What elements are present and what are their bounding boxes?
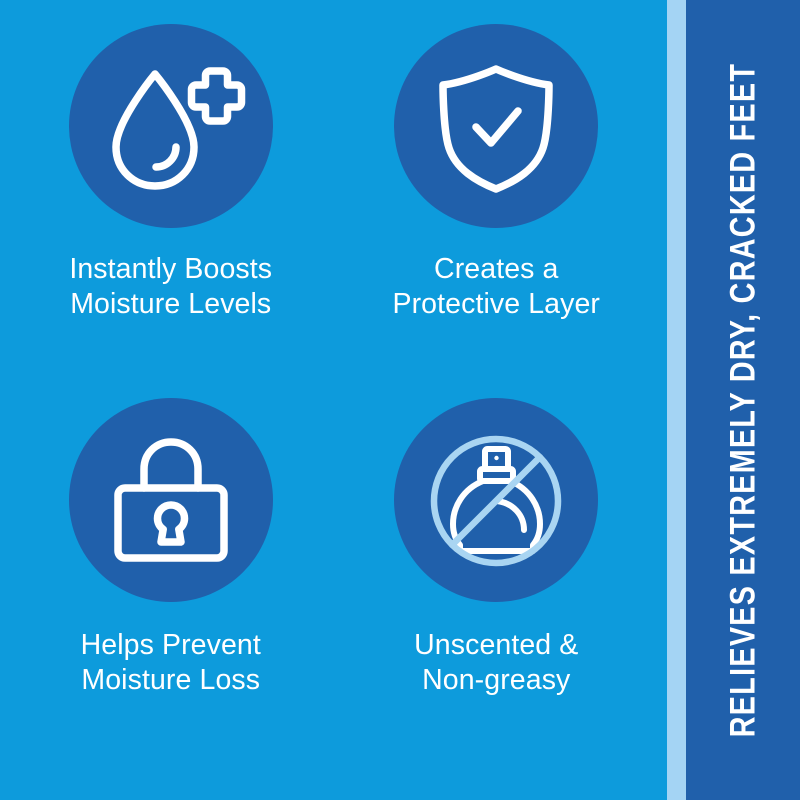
icon-disc: [394, 24, 598, 228]
feature-label: Instantly Boosts Moisture Levels: [69, 252, 272, 322]
padlock-icon: [96, 425, 246, 575]
side-banner: RELIEVES EXTREMELY DRY, CRACKED FEET: [686, 0, 800, 800]
water-drop-plus-icon: [96, 51, 246, 201]
icon-disc: [69, 24, 273, 228]
feature-label: Creates a Protective Layer: [392, 252, 600, 322]
icon-disc: [69, 398, 273, 602]
feature-card-helps-prevent-moisture-loss: Helps Prevent Moisture Loss: [8, 398, 334, 772]
shield-check-icon: [421, 51, 571, 201]
no-fragrance-bottle-icon: [421, 425, 571, 575]
infographic-canvas: Instantly Boosts Moisture Levels Creates…: [0, 0, 800, 800]
feature-card-unscented-and-non-greasy: Unscented & Non-greasy: [334, 398, 660, 772]
accent-stripe-divider: [667, 0, 686, 800]
feature-label: Helps Prevent Moisture Loss: [81, 628, 261, 698]
feature-card-creates-a-protective-layer: Creates a Protective Layer: [334, 24, 660, 398]
feature-card-instantly-boosts-moisture-levels: Instantly Boosts Moisture Levels: [8, 24, 334, 398]
feature-grid: Instantly Boosts Moisture Levels Creates…: [0, 0, 667, 800]
side-banner-text: RELIEVES EXTREMELY DRY, CRACKED FEET: [726, 63, 761, 738]
icon-disc: [394, 398, 598, 602]
feature-label: Unscented & Non-greasy: [414, 628, 578, 698]
